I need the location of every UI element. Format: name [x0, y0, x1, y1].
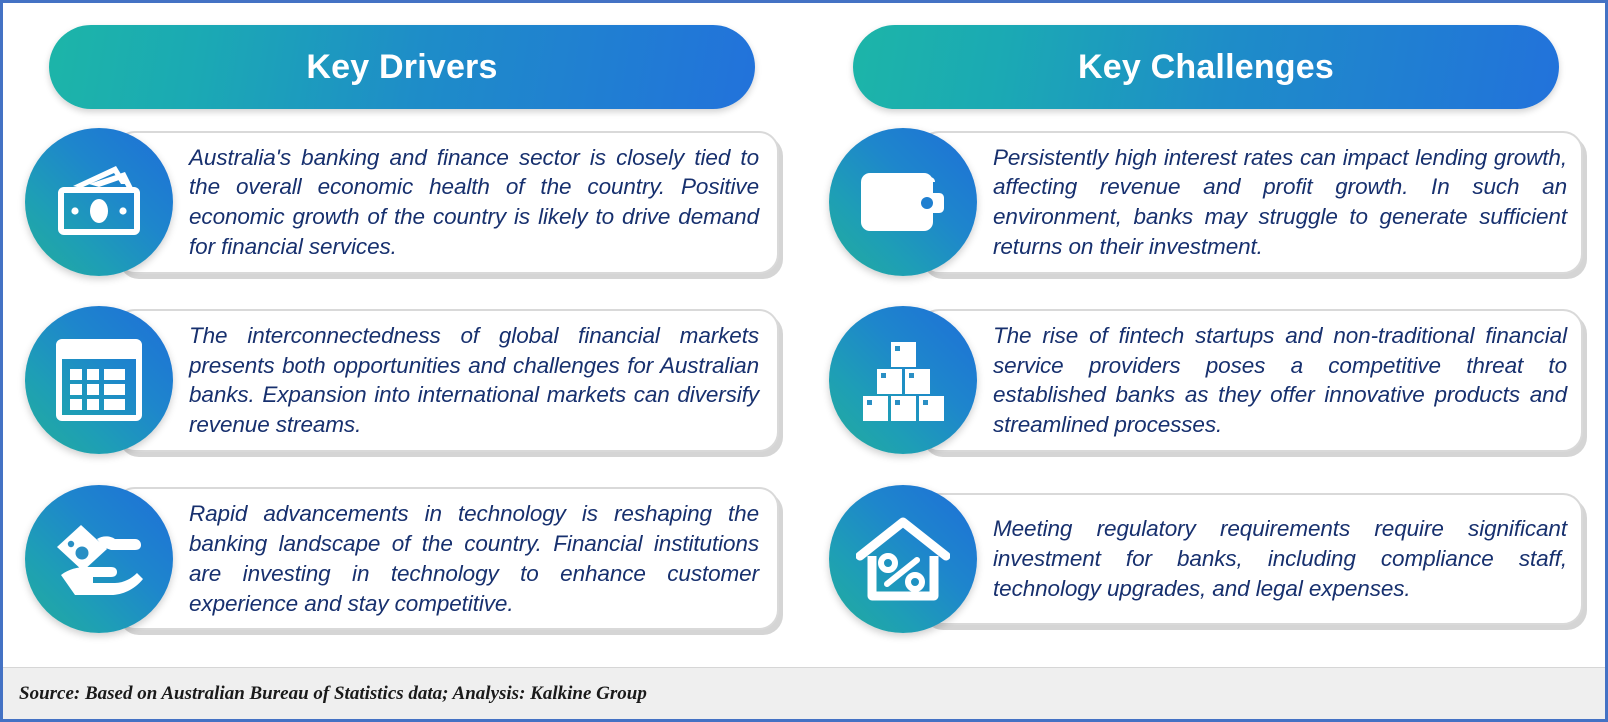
banknotes-icon [25, 128, 173, 276]
card-text: Persistently high interest rates can imp… [993, 143, 1567, 262]
column-key-drivers: Key Drivers [25, 25, 779, 648]
hand-holding-money-icon [25, 485, 173, 633]
column-key-challenges: Key Challenges Persistently high in [829, 25, 1583, 648]
columns-container: Key Drivers [3, 3, 1605, 648]
cards-key-challenges: Persistently high interest rates can imp… [829, 109, 1583, 648]
card-text: The rise of fintech startups and non-tra… [993, 321, 1567, 440]
card-body: The interconnectedness of global financi… [115, 309, 779, 452]
card-body: Australia's banking and finance sector i… [115, 131, 779, 274]
card-text: The interconnectedness of global financi… [189, 321, 759, 440]
card-text: Australia's banking and finance sector i… [189, 143, 759, 262]
source-footer: Source: Based on Australian Bureau of St… [3, 667, 1605, 719]
card-body: Rapid advancements in technology is resh… [115, 487, 779, 630]
card-row: Persistently high interest rates can imp… [829, 126, 1583, 278]
calendar-grid-icon [25, 306, 173, 454]
header-key-drivers: Key Drivers [49, 25, 755, 109]
stacked-boxes-icon [829, 306, 977, 454]
card-row: Rapid advancements in technology is resh… [25, 483, 779, 635]
card-row: The rise of fintech startups and non-tra… [829, 304, 1583, 456]
header-key-drivers-title: Key Drivers [306, 50, 497, 84]
card-row: Meeting regulatory requirements require … [829, 483, 1583, 635]
infographic-root: Key Drivers [0, 0, 1608, 722]
card-body: The rise of fintech startups and non-tra… [919, 309, 1583, 452]
source-text: Source: Based on Australian Bureau of St… [19, 683, 647, 705]
card-row: The interconnectedness of global financi… [25, 304, 779, 456]
card-body: Persistently high interest rates can imp… [919, 131, 1583, 274]
header-key-challenges-title: Key Challenges [1078, 50, 1334, 84]
card-text: Meeting regulatory requirements require … [993, 514, 1567, 603]
cards-key-drivers: Australia's banking and finance sector i… [25, 109, 779, 648]
wallet-icon [829, 128, 977, 276]
card-text: Rapid advancements in technology is resh… [189, 499, 759, 618]
house-percent-icon [829, 485, 977, 633]
card-body: Meeting regulatory requirements require … [919, 493, 1583, 625]
card-row: Australia's banking and finance sector i… [25, 126, 779, 278]
header-key-challenges: Key Challenges [853, 25, 1559, 109]
